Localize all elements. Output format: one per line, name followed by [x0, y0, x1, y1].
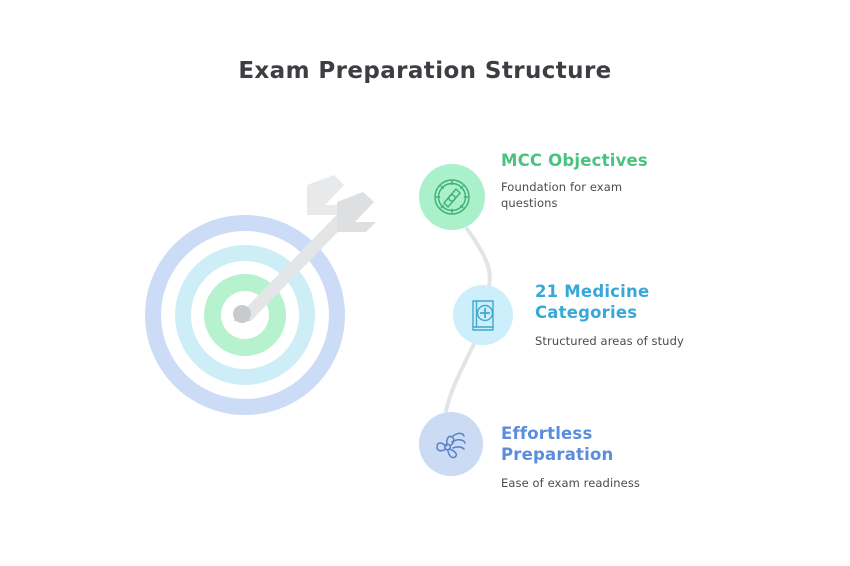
step-description-mcc-objectives: Foundation for exam questions [501, 179, 801, 211]
step-text-effortless-preparation: Effortless Preparation Ease of exam read… [501, 423, 801, 491]
infographic-canvas: Exam Preparation Structure [0, 0, 850, 566]
target-svg [138, 148, 428, 448]
step-description-effortless-preparation: Ease of exam readiness [501, 475, 801, 491]
step-title-mcc-objectives: MCC Objectives [501, 150, 801, 171]
step-icon-medicine-categories[interactable] [453, 285, 513, 345]
step-icon-effortless-preparation[interactable] [419, 412, 483, 476]
compass-icon [432, 177, 472, 217]
fan-wind-icon [431, 424, 471, 464]
step-title-effortless-preparation: Effortless Preparation [501, 423, 801, 465]
step-title-medicine-categories: 21 Medicine Categories [535, 281, 835, 323]
step-text-mcc-objectives: MCC Objectives Foundation for exam quest… [501, 150, 801, 211]
step-description-medicine-categories: Structured areas of study [535, 333, 835, 349]
connector-1-2 [467, 229, 490, 286]
step-text-medicine-categories: 21 Medicine Categories Structured areas … [535, 281, 835, 349]
medical-book-icon [464, 296, 502, 334]
target-illustration [138, 148, 428, 448]
connector-2-3 [446, 344, 474, 411]
step-icon-mcc-objectives[interactable] [419, 164, 485, 230]
page-title: Exam Preparation Structure [0, 58, 850, 84]
